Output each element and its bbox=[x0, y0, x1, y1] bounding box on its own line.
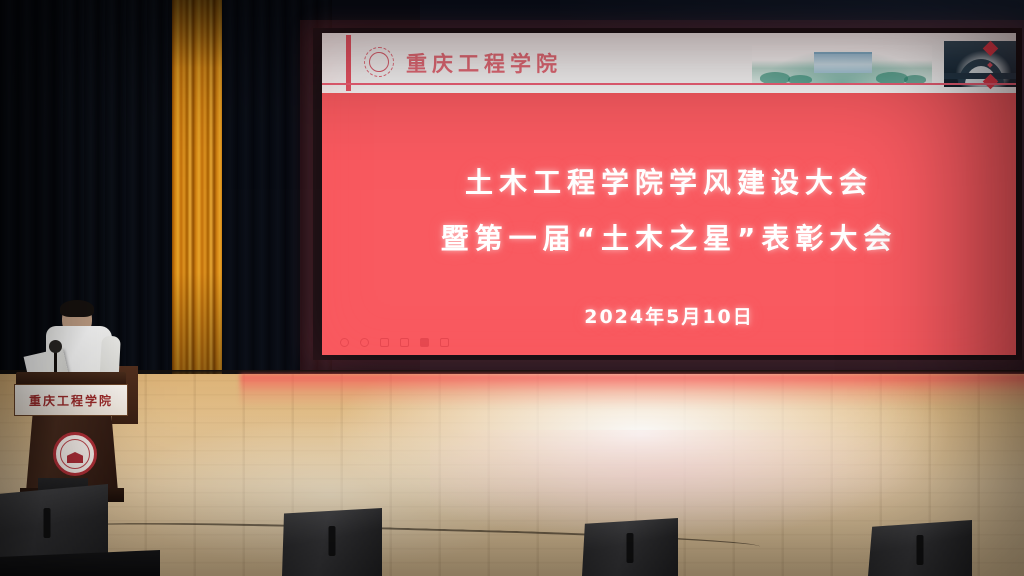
stage-scene: 重庆工程学院 土木工程学院学风建设大会 暨第一届“土木之星”表彰大会 bbox=[0, 0, 1024, 576]
stage-curtain-gold bbox=[172, 0, 224, 378]
stop-icon[interactable] bbox=[420, 338, 429, 347]
slide-title-line-2: 暨第一届“土木之星”表彰大会 bbox=[322, 217, 1016, 257]
slide-date: 2024年5月10日 bbox=[322, 302, 1016, 329]
podium-nameplate-text: 重庆工程学院 bbox=[29, 392, 113, 409]
campus-bridge-photo bbox=[944, 41, 1016, 87]
red-diamond-icon bbox=[982, 41, 998, 57]
header-accent-line bbox=[322, 83, 1016, 85]
next-icon[interactable] bbox=[400, 338, 409, 347]
slide-title-line-1: 土木工程学院学风建设大会 bbox=[322, 161, 1016, 201]
pause-icon[interactable] bbox=[360, 338, 369, 347]
slide-body: 土木工程学院学风建设大会 暨第一届“土木之星”表彰大会 2024年5月10日 bbox=[322, 93, 1016, 355]
play-icon[interactable] bbox=[340, 338, 349, 347]
floor-spotlight-glare bbox=[430, 430, 950, 540]
institution-name: 重庆工程学院 bbox=[406, 48, 562, 78]
stage-monitor-speaker bbox=[868, 520, 972, 576]
media-control-bar[interactable] bbox=[340, 338, 449, 347]
university-seal-icon bbox=[53, 432, 97, 476]
red-diamond-icon bbox=[982, 74, 998, 90]
speaker-hair bbox=[60, 300, 94, 317]
microphone-icon bbox=[49, 340, 62, 353]
floor-red-reflection bbox=[240, 374, 1024, 408]
prev-icon[interactable] bbox=[380, 338, 389, 347]
slide-header-band: 重庆工程学院 bbox=[322, 33, 1016, 93]
stage-monitor-speaker bbox=[582, 518, 678, 576]
campus-building-photo bbox=[752, 45, 932, 85]
university-emblem-icon bbox=[364, 47, 394, 77]
podium-nameplate: 重庆工程学院 bbox=[14, 384, 128, 416]
diamond-decoration-group bbox=[982, 43, 998, 87]
stage-monitor-speaker bbox=[282, 508, 382, 576]
settings-icon[interactable] bbox=[440, 338, 449, 347]
led-screen[interactable]: 重庆工程学院 土木工程学院学风建设大会 暨第一届“土木之星”表彰大会 bbox=[322, 33, 1016, 355]
red-diamond-small-icon bbox=[987, 62, 993, 68]
